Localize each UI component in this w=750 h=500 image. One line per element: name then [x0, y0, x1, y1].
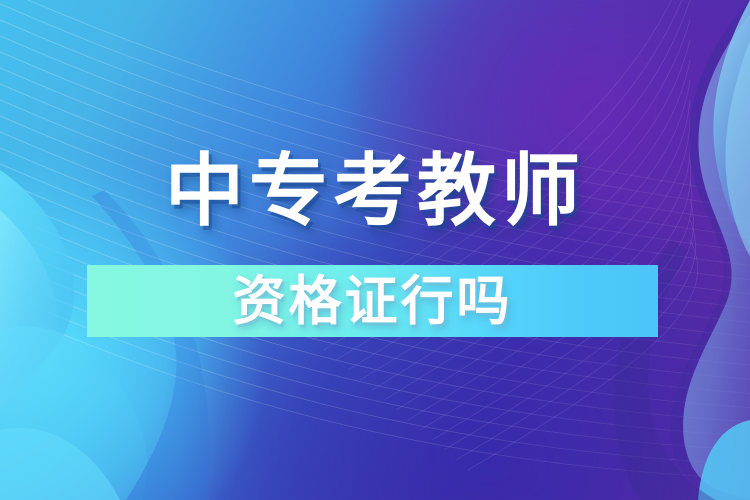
banner-main-title: 中专考教师: [165, 150, 585, 233]
wave-ribbon-decoration: [0, 0, 750, 500]
subtitle-block: 资格证行吗: [87, 265, 658, 337]
banner-subtitle: 资格证行吗: [233, 275, 513, 328]
promo-banner: 中专考教师 资格证行吗: [0, 0, 750, 500]
title-block: 中专考教师: [0, 150, 750, 233]
